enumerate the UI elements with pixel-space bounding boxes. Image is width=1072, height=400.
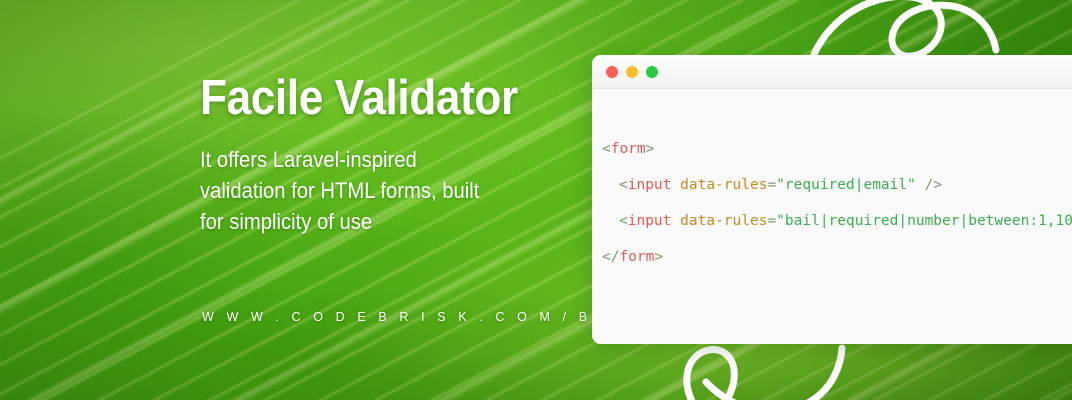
minimize-dot-icon[interactable] [626, 66, 638, 78]
code-token-punct: > [646, 141, 655, 157]
code-token-plain [671, 177, 680, 193]
code-token-punct: = [767, 177, 776, 193]
code-content: <form><input data-rules="required|email"… [592, 89, 1072, 344]
subtitle-line-2: validation for HTML forms, built [200, 175, 504, 206]
code-token-tag: input [628, 213, 672, 229]
code-token-str: "bail|required|number|between:1,10" [776, 213, 1072, 229]
code-token-punct: < [602, 141, 611, 157]
code-window: <form><input data-rules="required|email"… [592, 55, 1072, 344]
code-token-plain [671, 213, 680, 229]
code-token-plain [916, 177, 925, 193]
code-line: <input data-rules="required|email" /> [592, 167, 1072, 203]
page-title: Facile Validator [200, 71, 518, 125]
code-token-attr: data-rules [680, 177, 767, 193]
banner-text-column: Facile Validator It offers Laravel-inspi… [200, 0, 560, 400]
code-token-punct: > [654, 249, 663, 265]
code-window-titlebar [592, 55, 1072, 89]
code-token-punct: < [619, 213, 628, 229]
close-dot-icon[interactable] [606, 66, 618, 78]
banner-subtitle: It offers Laravel-inspired validation fo… [200, 144, 504, 237]
maximize-dot-icon[interactable] [646, 66, 658, 78]
code-token-punct: < [619, 177, 628, 193]
promo-banner: Facile Validator It offers Laravel-inspi… [0, 0, 1072, 400]
code-token-tag: form [611, 141, 646, 157]
code-line: </form> [592, 239, 1072, 275]
code-token-slash: /> [925, 177, 942, 193]
code-token-punct: </ [602, 249, 619, 265]
window-controls [606, 66, 658, 78]
code-token-punct: = [767, 213, 776, 229]
code-token-tag: form [619, 249, 654, 265]
site-url-label: W W W . C O D E B R I S K . C O M / B L … [202, 310, 656, 324]
code-line: <input data-rules="bail|required|number|… [592, 203, 1072, 239]
subtitle-line-3: for simplicity of use [200, 206, 504, 237]
code-token-attr: data-rules [680, 213, 767, 229]
code-line: <form> [592, 131, 1072, 167]
subtitle-line-1: It offers Laravel-inspired [200, 144, 504, 175]
code-token-tag: input [628, 177, 672, 193]
code-token-str: "required|email" [776, 177, 916, 193]
